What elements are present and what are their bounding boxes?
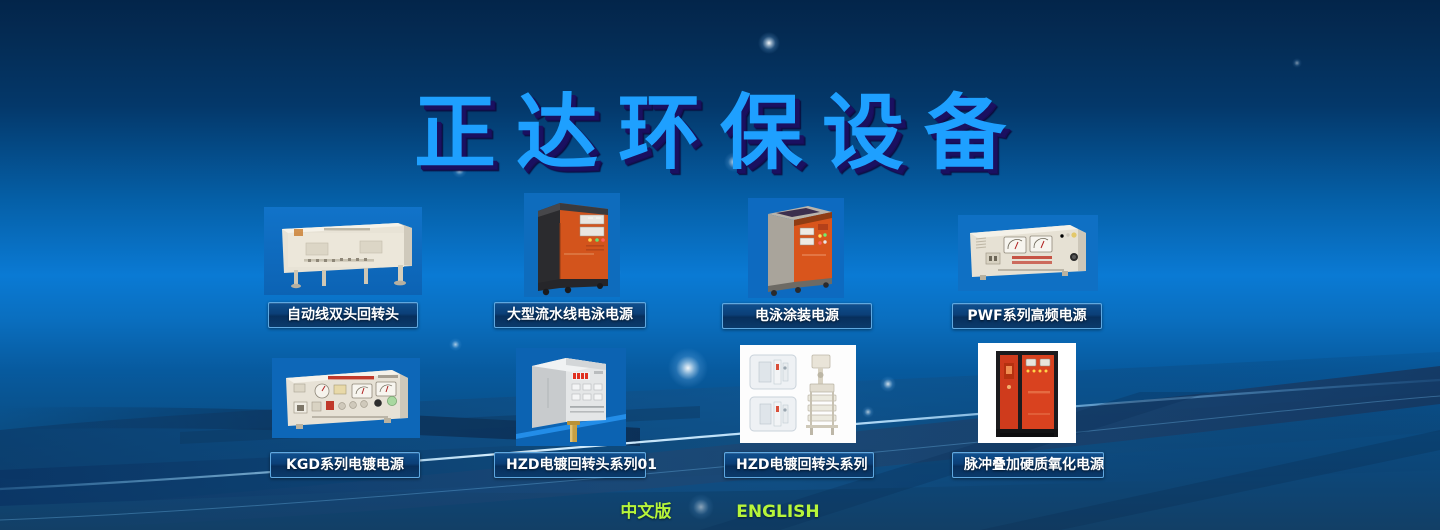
product-label-7[interactable]: HZD电镀回转头系列 — [724, 452, 874, 478]
bokeh-glow — [880, 376, 896, 392]
english-version-link[interactable]: ENGLISH — [736, 502, 819, 522]
product-image-8[interactable] — [978, 343, 1076, 443]
page-title: 正达环保设备 — [0, 66, 1440, 185]
product-label-2[interactable]: 大型流水线电泳电源 — [494, 302, 646, 328]
product-label-6[interactable]: HZD电镀回转头系列01 — [494, 452, 646, 478]
product-label-8[interactable]: 脉冲叠加硬质氧化电源 — [952, 452, 1104, 478]
product-image-1[interactable] — [264, 207, 422, 295]
product-image-4[interactable] — [958, 215, 1098, 291]
product-label-4[interactable]: PWF系列高频电源 — [952, 303, 1102, 329]
product-image-5[interactable] — [272, 358, 420, 438]
product-label-1[interactable]: 自动线双头回转头 — [268, 302, 418, 328]
product-image-2[interactable] — [524, 193, 620, 297]
product-image-3[interactable] — [748, 198, 844, 298]
product-image-7[interactable] — [740, 345, 856, 443]
bokeh-glow — [862, 406, 874, 418]
bokeh-glow — [668, 348, 708, 388]
product-label-5[interactable]: KGD系列电镀电源 — [270, 452, 420, 478]
splash-page: 正达环保设备 — [0, 0, 1440, 530]
language-bar: 中文版 ENGLISH — [0, 497, 1440, 522]
bokeh-glow — [449, 338, 462, 351]
product-label-3[interactable]: 电泳涂装电源 — [722, 303, 872, 329]
bokeh-glow — [758, 32, 780, 54]
product-image-6[interactable] — [516, 348, 626, 446]
chinese-version-link[interactable]: 中文版 — [620, 497, 671, 522]
